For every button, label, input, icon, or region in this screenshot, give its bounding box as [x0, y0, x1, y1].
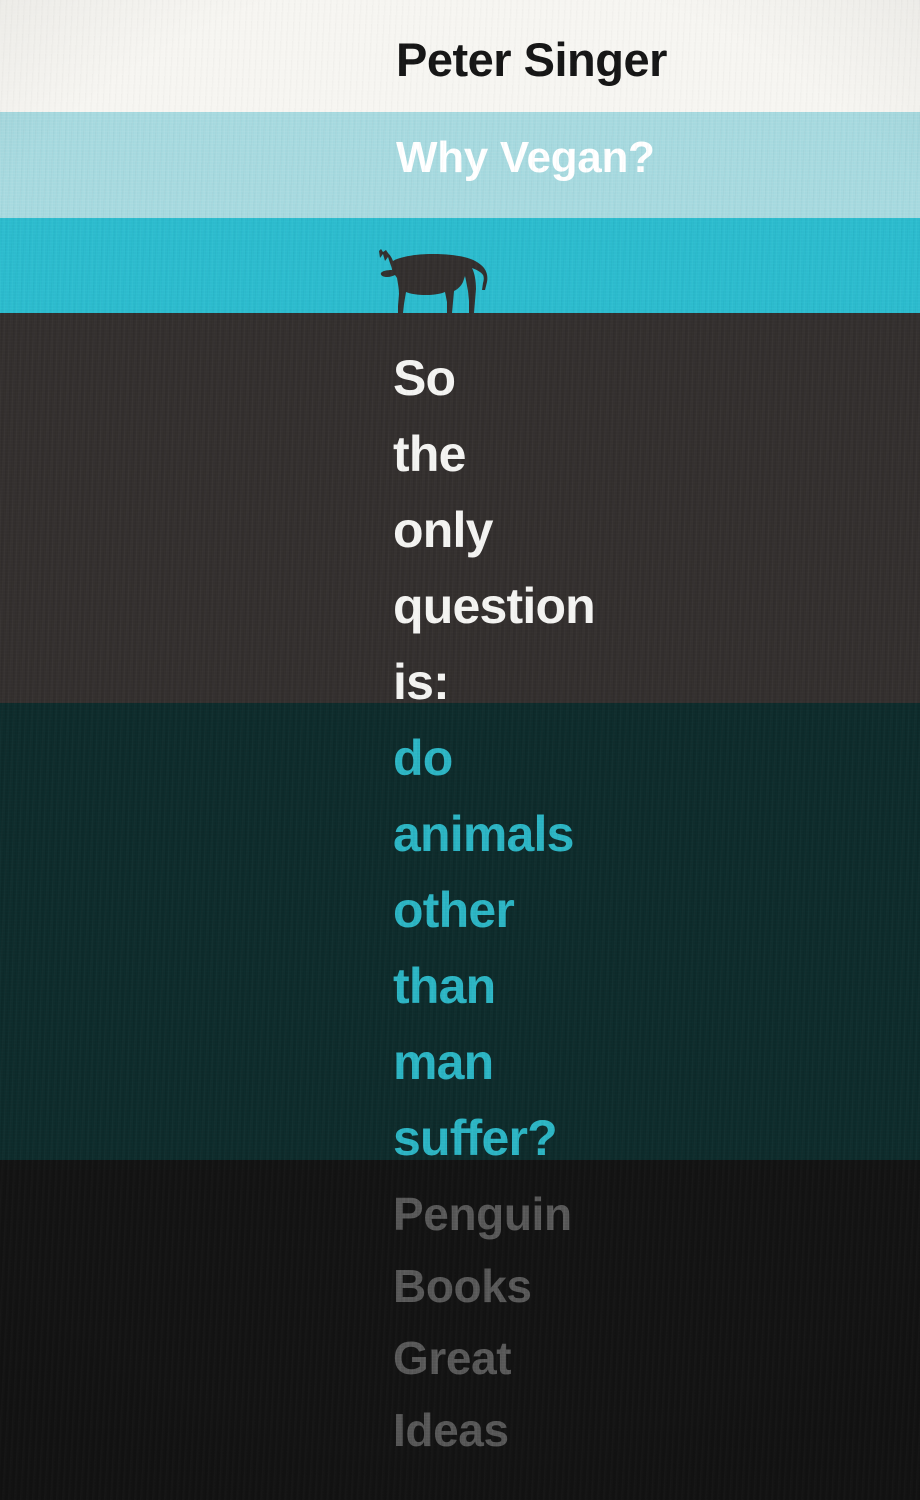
- quote-line: So: [393, 340, 893, 416]
- imprint-line: Penguin: [393, 1178, 893, 1250]
- author-name: Peter Singer: [396, 32, 667, 87]
- quote-line: other: [393, 872, 893, 948]
- quote-line: than: [393, 948, 893, 1024]
- imprint-line: Ideas: [393, 1394, 893, 1466]
- cow-silhouette-icon: [370, 244, 494, 314]
- quote-line: question: [393, 568, 893, 644]
- publisher-imprint: Penguin Books Great Ideas: [393, 1178, 893, 1466]
- quote-line: is:: [393, 644, 893, 720]
- quote-line: man: [393, 1024, 893, 1100]
- quote-line: animals: [393, 796, 893, 872]
- quote-line: do: [393, 720, 893, 796]
- cover-quote: So the only question is: do animals othe…: [393, 340, 893, 1176]
- quote-line: suffer?: [393, 1100, 893, 1176]
- imprint-line: Books: [393, 1250, 893, 1322]
- book-cover: Peter Singer Why Vegan? So the only ques…: [0, 0, 920, 1500]
- quote-line: the: [393, 416, 893, 492]
- book-title: Why Vegan?: [396, 133, 655, 183]
- imprint-line: Great: [393, 1322, 893, 1394]
- quote-line: only: [393, 492, 893, 568]
